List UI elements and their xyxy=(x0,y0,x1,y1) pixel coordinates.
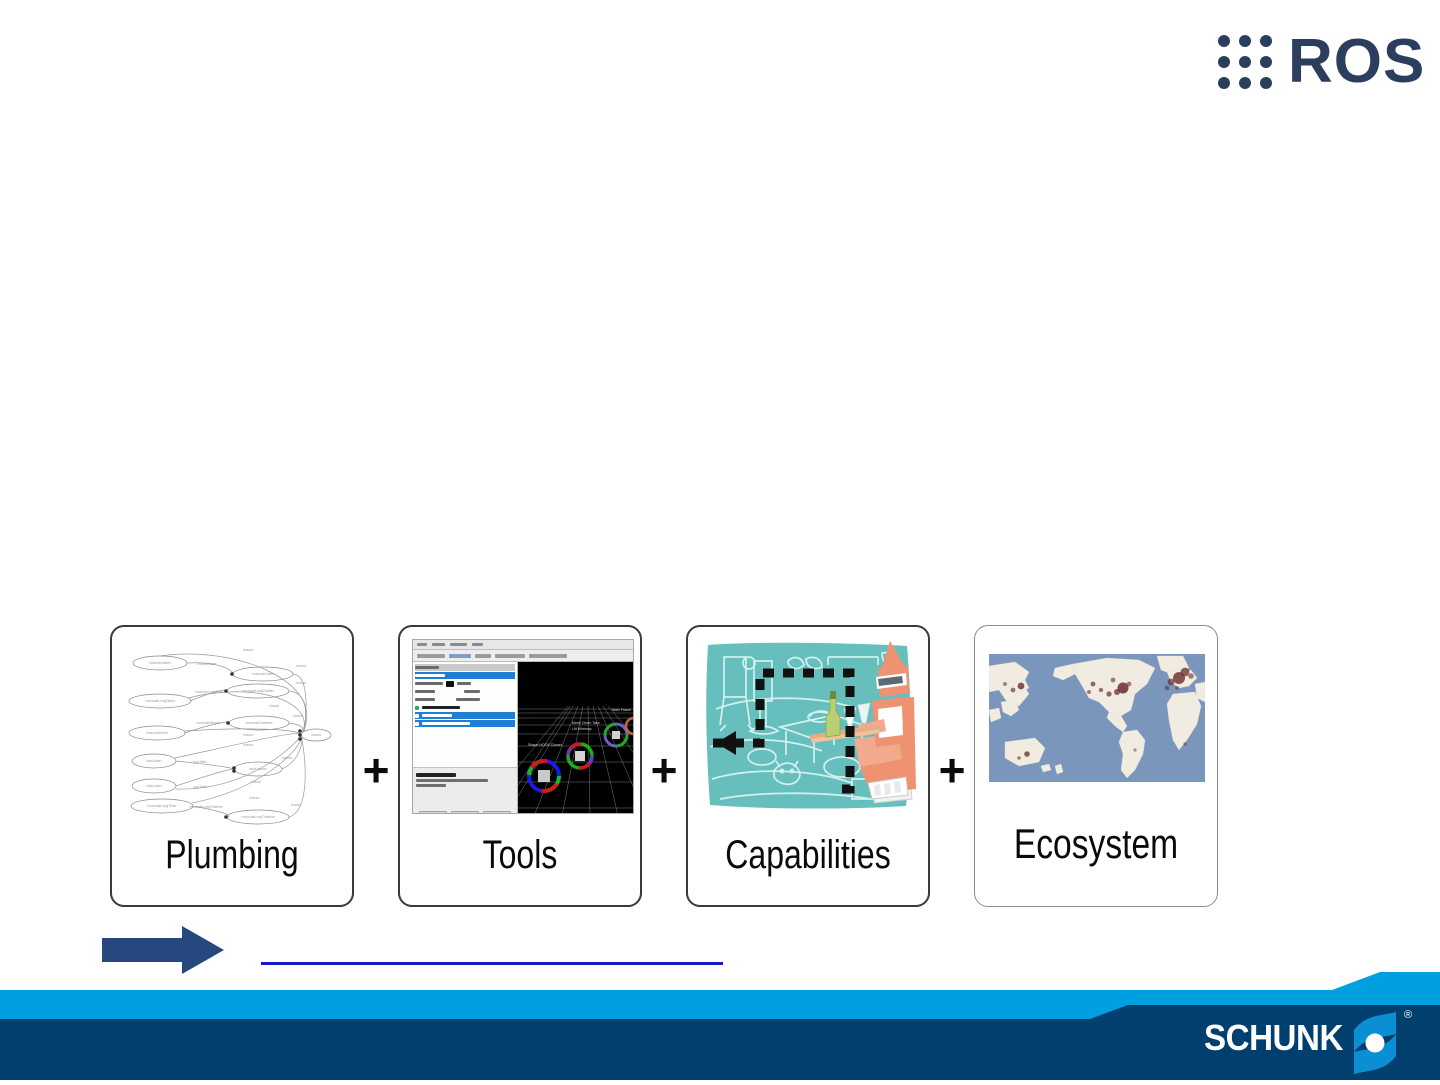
rviz-body: Shape HOOF Clower Mesh Cliner Take Lift … xyxy=(413,662,633,814)
tree-row xyxy=(415,712,515,719)
tree-row xyxy=(415,680,515,687)
rviz-description xyxy=(413,768,517,809)
svg-text:/rosout: /rosout xyxy=(269,704,279,708)
svg-text:/sysListen: /sysListen xyxy=(146,784,161,788)
svg-text:/rosnodeDriver: /rosnodeDriver xyxy=(146,731,169,735)
svg-text:/rosnodeSimple: /rosnodeSimple xyxy=(196,721,220,725)
svg-text:/rosout: /rosout xyxy=(296,664,306,668)
rviz-3d-viewport[interactable]: Shape HOOF Clower Mesh Cliner Take Lift … xyxy=(518,662,633,814)
ros-wordmark: ROS xyxy=(1288,31,1425,93)
pillar-label-plumbing: Plumbing xyxy=(136,833,328,878)
rviz-buttons[interactable] xyxy=(413,809,517,814)
schunk-wordmark: SCHUNK xyxy=(1204,1017,1343,1059)
reference-link-underline[interactable] xyxy=(261,962,723,965)
ros-logo: ROS xyxy=(1218,26,1418,98)
tree-row xyxy=(415,720,515,727)
svg-text:Mesh Cliner Take: Mesh Cliner Take xyxy=(572,721,600,725)
svg-text:/sysListener: /sysListener xyxy=(249,767,268,771)
rviz-menubar xyxy=(413,640,633,650)
svg-text:/rosnodeLongTimeline: /rosnodeLongTimeline xyxy=(241,815,275,819)
pillar-label-tools: Tools xyxy=(424,833,616,878)
svg-text:Shape HOOF Clower: Shape HOOF Clower xyxy=(528,743,563,747)
rviz-toolbar xyxy=(413,650,633,662)
svg-text:/rosout: /rosout xyxy=(311,733,321,737)
rviz-display-tree xyxy=(413,662,517,768)
svg-text:/rosoutName: /rosoutName xyxy=(197,662,217,666)
world-map-art xyxy=(989,654,1205,782)
plus-separator-2: + xyxy=(642,625,686,915)
plus-separator-1: + xyxy=(354,625,398,915)
svg-text:/rosout: /rosout xyxy=(243,743,253,747)
svg-text:/rosout: /rosout xyxy=(291,803,301,807)
svg-text:Main Frame: Main Frame xyxy=(612,708,631,712)
tree-row xyxy=(415,664,515,671)
svg-text:/rosnodeLongTimer: /rosnodeLongTimer xyxy=(147,804,177,808)
svg-text:/rosnodeChatterer: /rosnodeChatterer xyxy=(245,721,273,725)
svg-text:/sysListen: /sysListen xyxy=(146,759,161,763)
svg-text:/rosnodeLongTalker: /rosnodeLongTalker xyxy=(145,699,176,703)
tree-row xyxy=(415,704,515,711)
pillar-card-capabilities[interactable]: Capabilities xyxy=(686,625,930,907)
ros-node-graph-art: /rosnodeName /rosnodeLongTalker /rosnode… xyxy=(124,641,344,831)
rviz-screenshot-art: Shape HOOF Clower Mesh Cliner Take Lift … xyxy=(412,639,634,814)
pillar-card-ecosystem[interactable]: Ecosystem xyxy=(974,625,1218,907)
svg-text:/rosnodeName: /rosnodeName xyxy=(149,661,171,665)
svg-text:/rosnodeLongChatter: /rosnodeLongChatter xyxy=(242,689,275,693)
tree-row xyxy=(415,696,515,703)
svg-text:/rosout: /rosout xyxy=(293,714,303,718)
svg-text:/rosnodeListen: /rosnodeListen xyxy=(252,672,274,676)
svg-text:/rosout: /rosout xyxy=(243,648,253,652)
robot-butler-art xyxy=(702,639,918,819)
svg-text:/sysTalks: /sysTalks xyxy=(193,785,207,789)
tree-row xyxy=(415,688,515,695)
ros-dot-grid-icon xyxy=(1218,35,1272,89)
tree-row xyxy=(415,672,515,679)
svg-text:/rosout: /rosout xyxy=(251,780,261,784)
svg-text:/rosnodeLongTimeline: /rosnodeLongTimeline xyxy=(189,805,223,809)
pillars-row: /rosnodeName /rosnodeLongTalker /rosnode… xyxy=(110,625,1260,915)
svg-text:/rosout: /rosout xyxy=(296,681,306,685)
registered-mark: ® xyxy=(1404,1009,1412,1021)
svg-text:/rosout: /rosout xyxy=(282,756,292,760)
pillar-label-ecosystem: Ecosystem xyxy=(999,820,1193,868)
svg-text:Lift Wireway: Lift Wireway xyxy=(572,727,592,731)
svg-text:/rosnodeLongTalks: /rosnodeLongTalks xyxy=(195,690,224,694)
rviz-displays-panel xyxy=(413,662,518,814)
pillar-card-plumbing[interactable]: /rosnodeName /rosnodeLongTalker /rosnode… xyxy=(110,625,354,907)
pillar-label-capabilities: Capabilities xyxy=(712,833,904,878)
svg-text:/rosout: /rosout xyxy=(243,733,253,737)
pillar-card-tools[interactable]: Shape HOOF Clower Mesh Cliner Take Lift … xyxy=(398,625,642,907)
svg-text:/sysTalks: /sysTalks xyxy=(193,760,207,764)
plus-separator-3: + xyxy=(930,625,974,915)
svg-text:/rosout: /rosout xyxy=(249,796,259,800)
